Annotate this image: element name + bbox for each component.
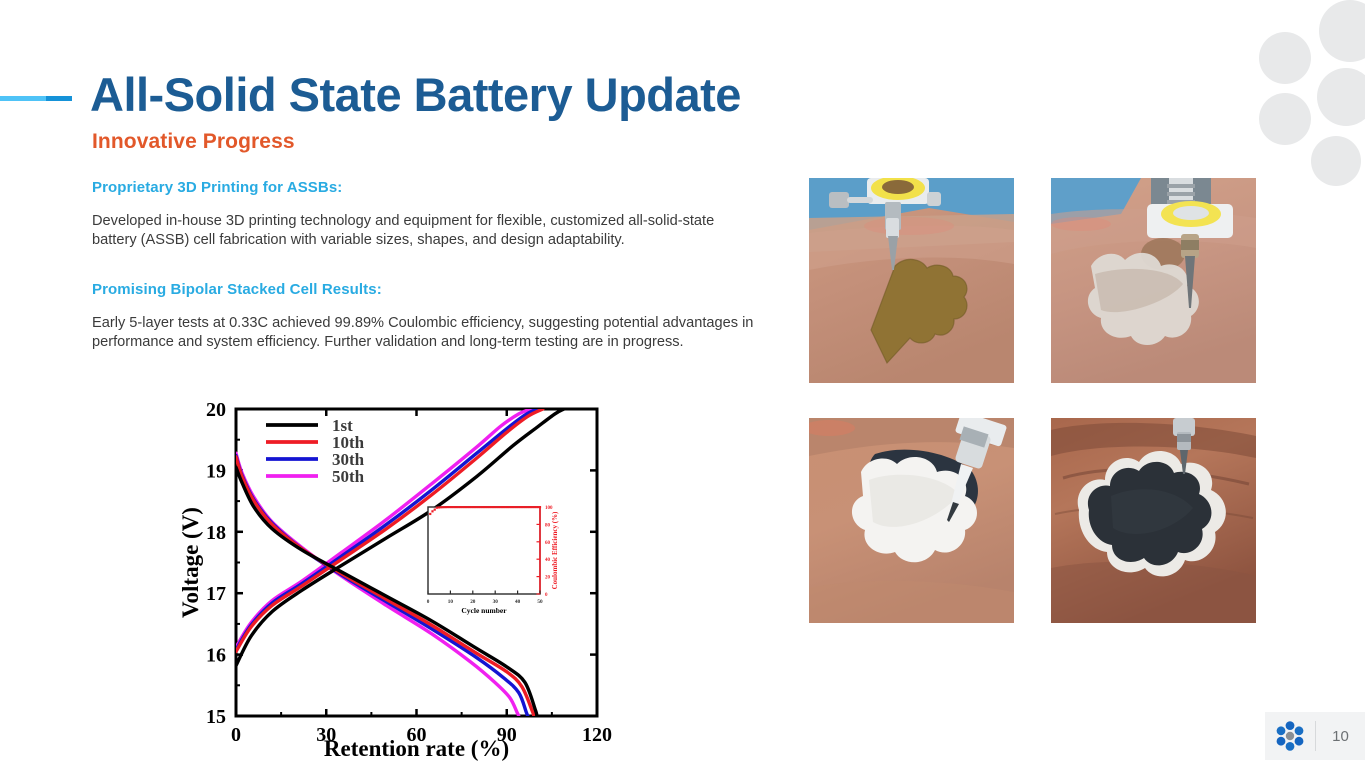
photo-white-separator-printing[interactable] (809, 418, 1014, 623)
svg-text:Voltage (V): Voltage (V) (178, 507, 203, 618)
svg-text:18: 18 (206, 522, 226, 544)
accent-bar-segment-dark (46, 96, 72, 101)
photo-grey-layer-printing[interactable] (1051, 178, 1256, 383)
flower-molecule-logo (1265, 712, 1315, 760)
voltage-retention-chart: 0306090120151617181920Retention rate (%)… (178, 396, 622, 764)
decorative-circles (1245, 0, 1365, 200)
svg-text:30: 30 (493, 599, 499, 605)
accent-bar-segment-light (0, 96, 46, 101)
page-subtitle: Innovative Progress (92, 130, 295, 154)
section-heading-3d-printing: Proprietary 3D Printing for ASSBs: (92, 179, 764, 196)
svg-text:Coulombic Efficiency (%): Coulombic Efficiency (%) (551, 511, 559, 589)
svg-text:20: 20 (545, 576, 551, 581)
svg-text:20: 20 (206, 399, 226, 421)
photo-black-cathode-printing[interactable] (1051, 418, 1256, 623)
footer-bar: 10 (1265, 712, 1365, 760)
svg-text:40: 40 (545, 558, 551, 563)
svg-text:17: 17 (206, 583, 226, 605)
svg-text:50th: 50th (332, 467, 365, 486)
svg-text:Cycle number: Cycle number (461, 606, 507, 615)
svg-text:Retention rate (%): Retention rate (%) (324, 736, 509, 761)
chart-svg: 0306090120151617181920Retention rate (%)… (178, 396, 622, 764)
section-paragraph-bipolar-results: Early 5-layer tests at 0.33C achieved 99… (92, 314, 760, 353)
svg-text:50: 50 (537, 599, 543, 605)
section-heading-bipolar-results: Promising Bipolar Stacked Cell Results: (92, 281, 764, 298)
svg-text:10: 10 (448, 599, 454, 605)
svg-text:20: 20 (470, 599, 476, 605)
svg-text:60: 60 (545, 541, 551, 546)
page-number: 10 (1316, 728, 1365, 745)
slide: All-Solid State Battery Update Innovativ… (0, 0, 1365, 768)
svg-text:16: 16 (206, 645, 226, 667)
svg-text:100: 100 (545, 506, 553, 511)
section-paragraph-3d-printing: Developed in-house 3D printing technolog… (92, 212, 760, 251)
svg-text:80: 80 (545, 523, 551, 528)
svg-text:120: 120 (582, 724, 612, 746)
svg-text:0: 0 (427, 599, 430, 605)
svg-text:19: 19 (206, 460, 226, 482)
photo-grid (809, 178, 1258, 623)
page-title: All-Solid State Battery Update (90, 70, 741, 119)
svg-text:0: 0 (231, 724, 241, 746)
photo-gold-layer-printing[interactable] (809, 178, 1014, 383)
title-accent-bar (0, 96, 72, 101)
svg-text:15: 15 (206, 706, 226, 728)
svg-text:40: 40 (515, 599, 521, 605)
